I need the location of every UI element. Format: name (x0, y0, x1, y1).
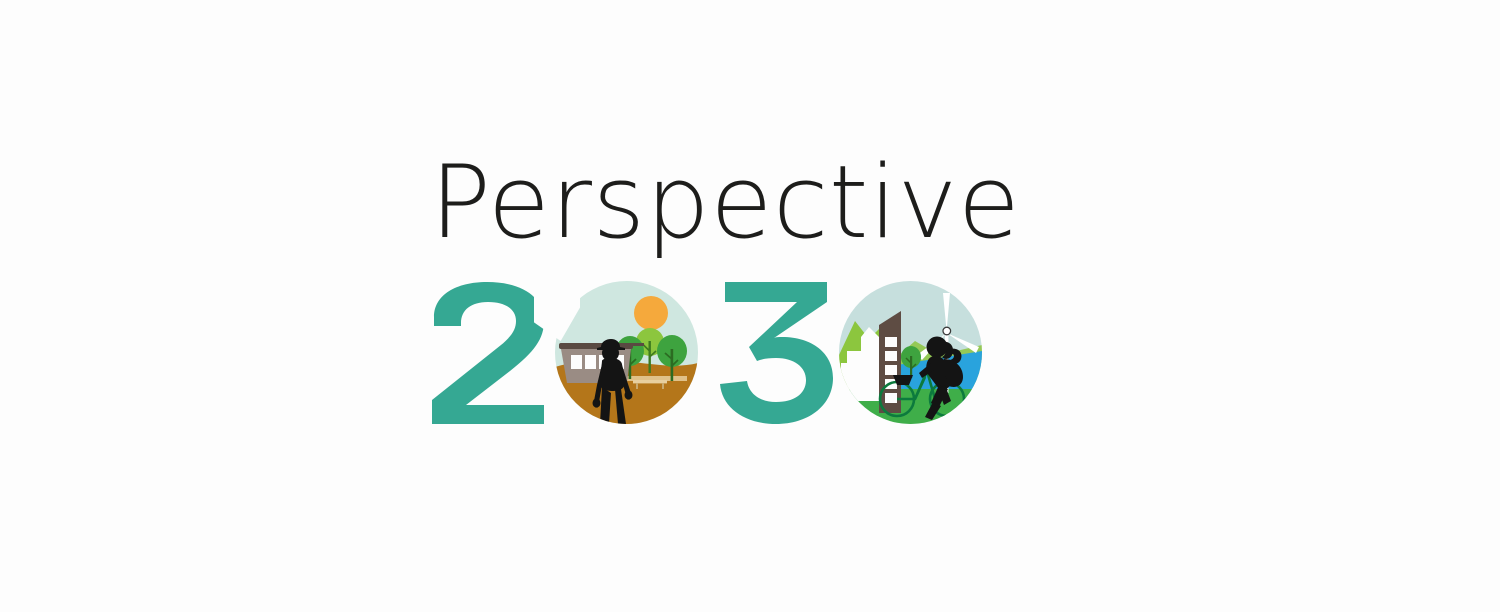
digit-2 (430, 281, 548, 424)
digit-3 (719, 281, 835, 424)
page-title: Perspective (430, 147, 990, 257)
year-numerals (430, 281, 982, 424)
sun-icon (634, 296, 668, 330)
logo-canvas: Perspective (0, 0, 1500, 612)
digit-0-city-scene (839, 281, 982, 424)
